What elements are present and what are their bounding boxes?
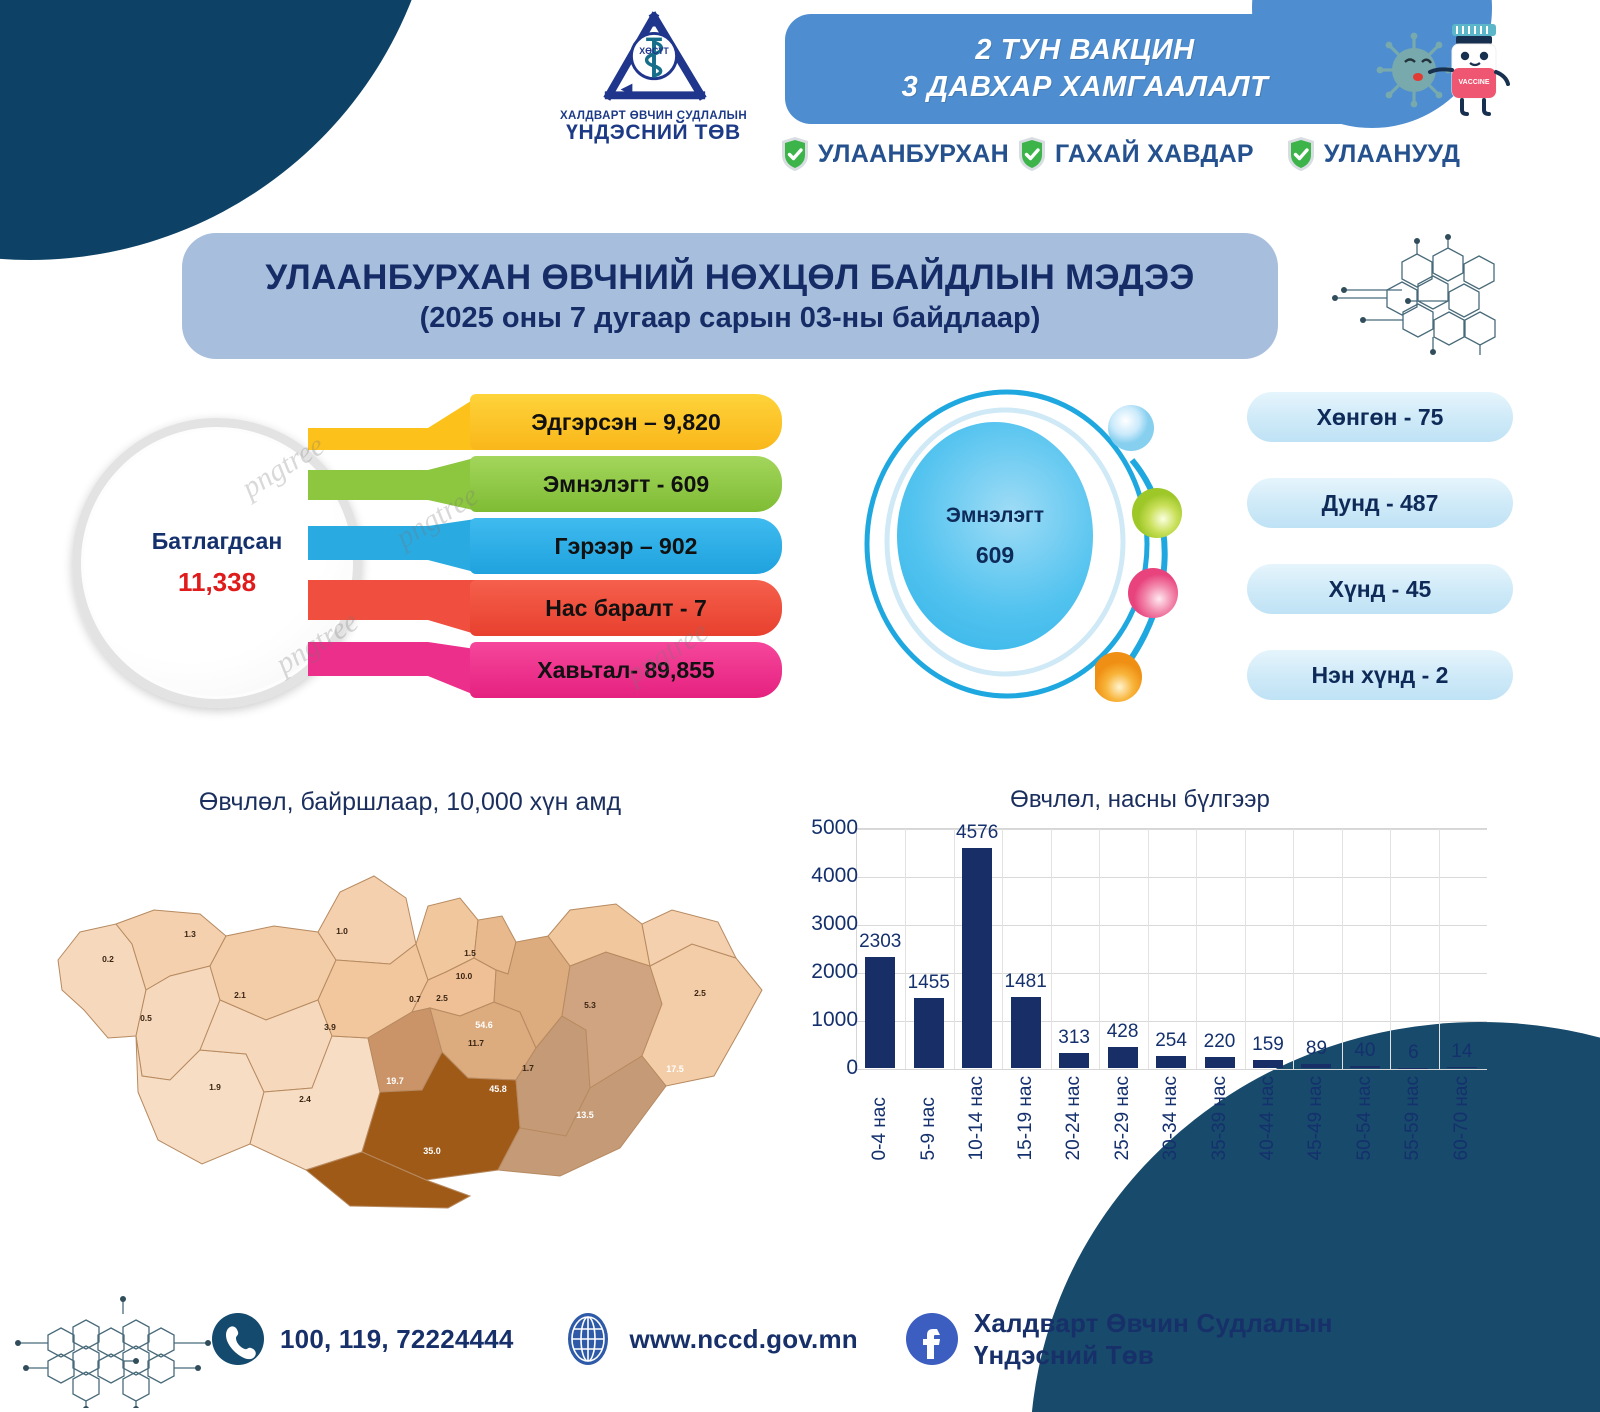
page-title: УЛААНБУРХАН ӨВЧНИЙ НӨХЦӨЛ БАЙДЛЫН МЭДЭЭ … — [182, 233, 1278, 359]
chart-bar-value: 254 — [1147, 1030, 1195, 1052]
chart-bar-cell: 159 — [1244, 828, 1292, 1068]
map-value: 2.5 — [694, 988, 706, 998]
chart-x-cell: 10-14 нас — [953, 1076, 1001, 1160]
map-value: 17.5 — [666, 1064, 684, 1074]
chart-title: Өвчлөл, насны бүлгээр — [780, 786, 1500, 814]
map-title: Өвчлөл, байршлаар, 10,000 хүн амд — [40, 788, 780, 817]
funnel-tail-4 — [308, 642, 482, 698]
chart-x-cell: 0-4 нас — [856, 1076, 904, 1160]
chart-x-tick: 40-44 нас — [1257, 1076, 1279, 1160]
chart-bar — [1156, 1056, 1186, 1068]
facebook-icon — [904, 1311, 960, 1367]
chart-x-tick: 35-39 нас — [1209, 1076, 1231, 1160]
hospitalized-label: Эмнэлэгт — [946, 504, 1044, 528]
chart-x-tick: 15-19 нас — [1015, 1076, 1037, 1160]
map-value: 0.2 — [102, 954, 114, 964]
shield-check-icon — [1017, 136, 1047, 172]
hospitalized-severity-orbit: Эмнэлэгт 609 Хөнгөн - 75 Дунд - 487 Хүнд… — [855, 382, 1515, 722]
shield-label-2: УЛААНУУД — [1324, 140, 1460, 169]
map-value: 2.5 — [436, 993, 448, 1003]
footer-website[interactable]: www.nccd.gov.mn — [560, 1311, 858, 1367]
chart-bar-value: 1455 — [904, 972, 952, 994]
chart-bar-cell: 89 — [1292, 828, 1340, 1068]
severity-badge-1: Дунд - 487 — [1247, 478, 1513, 528]
vaccine-mascot-illustration-icon: VACCINE — [1372, 14, 1522, 134]
footer-contact-bar: 100, 119, 72224444 www.nccd.gov.mn Халдв… — [210, 1284, 1460, 1394]
map-value: 1.0 — [336, 926, 348, 936]
logo-abbrev: ХӨСҮТ — [639, 46, 669, 56]
chart-x-labels: 0-4 нас5-9 нас10-14 нас15-19 нас20-24 на… — [856, 1076, 1486, 1160]
funnel-row-4: Хавьтал- 89,855 — [308, 642, 782, 698]
chart-bar-value: 2303 — [856, 931, 904, 953]
severity-badge-2: Хүнд - 45 — [1247, 564, 1513, 614]
funnel-tail-0 — [308, 394, 482, 450]
funnel-label-3: Нас баралт - 7 — [470, 580, 782, 636]
map-value: 2.4 — [299, 1094, 311, 1104]
map-value: 0.7 — [409, 994, 421, 1004]
severity-badge-3: Нэн хүнд - 2 — [1247, 650, 1513, 700]
top-left-decorative-shape — [0, 0, 440, 260]
chart-bar — [1059, 1053, 1089, 1068]
banner-line-2: 3 ДАВХАР ХАМГААЛАЛТ — [902, 69, 1269, 106]
footer-facebook-text: Халдварт Өвчин Судлалын Үндэсний Төв — [974, 1307, 1404, 1372]
page-title-sub: (2025 оны 7 дугаар сарын 03-ны байдлаар) — [420, 302, 1041, 335]
incidence-map-section: Өвчлөл, байршлаар, 10,000 хүн амд — [40, 780, 780, 1230]
chart-x-cell: 45-49 нас — [1292, 1076, 1340, 1160]
funnel-tail-3 — [308, 580, 482, 636]
footer-phone-text: 100, 119, 72224444 — [280, 1324, 514, 1355]
shield-item-0: УЛААНБУРХАН — [780, 136, 1009, 172]
funnel-label-4: Хавьтал- 89,855 — [470, 642, 782, 698]
funnel-label-1: Эмнэлэгт - 609 — [470, 456, 782, 512]
chart-bar-cell: 313 — [1050, 828, 1098, 1068]
chart-bar-cell: 4576 — [953, 828, 1001, 1068]
caduceus-triangle-logo-icon: ХӨСҮТ — [595, 8, 713, 108]
chart-x-tick: 25-29 нас — [1112, 1076, 1134, 1160]
chart-bar — [1205, 1057, 1235, 1068]
map-value: 0.5 — [140, 1013, 152, 1023]
funnel-tail-1 — [308, 456, 482, 512]
chart-bar-cell: 1455 — [904, 828, 952, 1068]
chart-x-tick: 30-34 нас — [1160, 1076, 1182, 1160]
chart-x-cell: 55-59 нас — [1389, 1076, 1437, 1160]
chart-bar-cell: 14 — [1438, 828, 1486, 1068]
funnel-tail-2 — [308, 518, 482, 574]
shield-check-icon — [780, 136, 810, 172]
severity-badge-0: Хөнгөн - 75 — [1247, 392, 1513, 442]
protection-shield-row: УЛААНБУРХАН ГАХАЙ ХАВДАР УЛААНУУД — [780, 136, 1550, 172]
chart-x-cell: 15-19 нас — [1001, 1076, 1049, 1160]
chart-y-tick: 3000 — [811, 912, 858, 936]
chart-x-tick: 50-54 нас — [1354, 1076, 1376, 1160]
chart-y-tick: 5000 — [811, 816, 858, 840]
hospitalized-core: Эмнэлэгт 609 — [897, 422, 1093, 650]
chart-bar — [1301, 1064, 1331, 1068]
chart-x-cell: 60-70 нас — [1438, 1076, 1486, 1160]
chart-bar-value: 159 — [1244, 1034, 1292, 1056]
chart-bar-cell: 428 — [1098, 828, 1146, 1068]
chart-x-tick: 10-14 нас — [966, 1076, 988, 1160]
chart-bar-value: 40 — [1341, 1040, 1389, 1062]
orbit-spheres — [1095, 396, 1245, 706]
chart-x-tick: 45-49 нас — [1305, 1076, 1327, 1160]
chart-bar-value: 14 — [1438, 1041, 1486, 1063]
shield-item-1: ГАХАЙ ХАВДАР — [1017, 136, 1254, 172]
chart-bar-cell: 2303 — [856, 828, 904, 1068]
chart-bars: 23031455457614813134282542201598940614 — [856, 828, 1486, 1068]
age-group-bar-chart: Өвчлөл, насны бүлгээр 010002000300040005… — [780, 780, 1500, 1230]
chart-x-tick: 0-4 нас — [869, 1076, 891, 1160]
shield-item-2: УЛААНУУД — [1286, 136, 1460, 172]
map-value: 2.1 — [234, 990, 246, 1000]
chart-bar — [865, 957, 895, 1068]
map-value: 1.9 — [209, 1082, 221, 1092]
severity-badges: Хөнгөн - 75 Дунд - 487 Хүнд - 45 Нэн хүн… — [1247, 384, 1515, 694]
chart-bar — [1011, 997, 1041, 1068]
chart-x-cell: 30-34 нас — [1147, 1076, 1195, 1160]
chart-bar — [1108, 1047, 1138, 1068]
funnel-row-2: Гэрээр – 902 — [308, 518, 782, 574]
footer-facebook[interactable]: Халдварт Өвчин Судлалын Үндэсний Төв — [904, 1307, 1404, 1372]
chart-x-cell: 20-24 нас — [1050, 1076, 1098, 1160]
funnel-row-1: Эмнэлэгт - 609 — [308, 456, 782, 512]
chart-x-tick: 55-59 нас — [1402, 1076, 1424, 1160]
chart-bar-cell: 6 — [1389, 828, 1437, 1068]
chart-bar-cell: 220 — [1195, 828, 1243, 1068]
map-value: 54.6 — [475, 1020, 493, 1030]
chart-bar-cell: 40 — [1341, 828, 1389, 1068]
chart-y-tick: 1000 — [811, 1008, 858, 1032]
map-value: 3.9 — [324, 1022, 336, 1032]
chart-x-cell: 5-9 нас — [904, 1076, 952, 1160]
shield-label-0: УЛААНБУРХАН — [818, 140, 1009, 169]
chart-bar — [1350, 1066, 1380, 1068]
footer-website-text: www.nccd.gov.mn — [630, 1324, 858, 1355]
page-title-main: УЛААНБУРХАН ӨВЧНИЙ НӨХЦӨЛ БАЙДЛЫН МЭДЭЭ — [265, 258, 1194, 298]
case-breakdown-funnel: Батлагдсан 11,338 Эдгэрсэн – 9,820 Эмнэл… — [62, 390, 782, 720]
vaccine-bottle-label: VACCINE — [1459, 79, 1490, 86]
chart-x-tick: 60-70 нас — [1451, 1076, 1473, 1160]
logo-line-2: ҮНДЭСНИЙ ТӨВ — [546, 122, 761, 144]
chart-bar-value: 313 — [1050, 1027, 1098, 1049]
map-value: 13.5 — [576, 1110, 594, 1120]
map-value: 11.7 — [468, 1038, 484, 1048]
map-value: 45.8 — [489, 1084, 507, 1094]
chart-bar-value: 4576 — [953, 822, 1001, 844]
chart-y-tick: 2000 — [811, 960, 858, 984]
chart-bar-value: 428 — [1098, 1021, 1146, 1043]
vaccine-banner: 2 ТУН ВАКЦИН 3 ДАВХАР ХАМГААЛАЛТ — [785, 14, 1385, 124]
chart-bar — [1447, 1067, 1477, 1068]
chart-y-tick: 4000 — [811, 864, 858, 888]
chart-x-tick: 20-24 нас — [1063, 1076, 1085, 1160]
hexagon-decoration-icon — [1322, 232, 1522, 372]
map-value: 19.7 — [386, 1076, 404, 1086]
chart-bar-cell: 1481 — [1001, 828, 1049, 1068]
confirmed-value: 11,338 — [178, 567, 256, 598]
shield-label-1: ГАХАЙ ХАВДАР — [1055, 140, 1254, 169]
vaccine-bottle-character: VACCINE — [1430, 24, 1508, 114]
funnel-row-0: Эдгэрсэн – 9,820 — [308, 394, 782, 450]
chart-bar-value: 220 — [1195, 1031, 1243, 1053]
infographic-page: ХӨСҮТ ХАЛДВАРТ ӨВЧИН СУДЛАЛЫН ҮНДЭСНИЙ Т… — [0, 0, 1600, 1412]
chart-x-cell: 50-54 нас — [1341, 1076, 1389, 1160]
banner-line-1: 2 ТУН ВАКЦИН — [975, 32, 1194, 69]
shield-check-icon — [1286, 136, 1316, 172]
phone-icon — [210, 1311, 266, 1367]
organization-logo: ХӨСҮТ ХАЛДВАРТ ӨВЧИН СУДЛАЛЫН ҮНДЭСНИЙ Т… — [546, 8, 761, 144]
chart-bar — [1253, 1060, 1283, 1068]
funnel-label-0: Эдгэрсэн – 9,820 — [470, 394, 782, 450]
map-value: 1.5 — [464, 948, 476, 958]
map-value: 1.3 — [184, 929, 196, 939]
chart-x-cell: 40-44 нас — [1244, 1076, 1292, 1160]
chart-bar-cell: 254 — [1147, 828, 1195, 1068]
chart-bar-value: 1481 — [1001, 971, 1049, 993]
map-value: 5.3 — [584, 1000, 596, 1010]
chart-bar-value: 6 — [1389, 1042, 1437, 1064]
chart-bar — [914, 998, 944, 1068]
map-value: 35.0 — [423, 1146, 441, 1156]
funnel-row-3: Нас баралт - 7 — [308, 580, 782, 636]
chart-x-tick: 5-9 нас — [918, 1076, 940, 1160]
mongolia-choropleth-map: 0.2 1.3 1.0 1.5 10.0 0.7 2.5 2.1 0.5 3.9… — [50, 840, 770, 1210]
funnel-rows: Эдгэрсэн – 9,820 Эмнэлэгт - 609 Гэрээр –… — [308, 394, 782, 716]
chart-x-cell: 25-29 нас — [1098, 1076, 1146, 1160]
footer-phone[interactable]: 100, 119, 72224444 — [210, 1311, 514, 1367]
chart-x-cell: 35-39 нас — [1195, 1076, 1243, 1160]
funnel-label-2: Гэрээр – 902 — [470, 518, 782, 574]
chart-bar-value: 89 — [1292, 1038, 1340, 1060]
map-value: 10.0 — [456, 971, 473, 981]
chart-bar — [962, 848, 992, 1068]
map-value: 1.7 — [522, 1063, 534, 1073]
confirmed-label: Батлагдсан — [152, 528, 282, 555]
globe-icon — [560, 1311, 616, 1367]
hospitalized-value: 609 — [976, 542, 1014, 569]
